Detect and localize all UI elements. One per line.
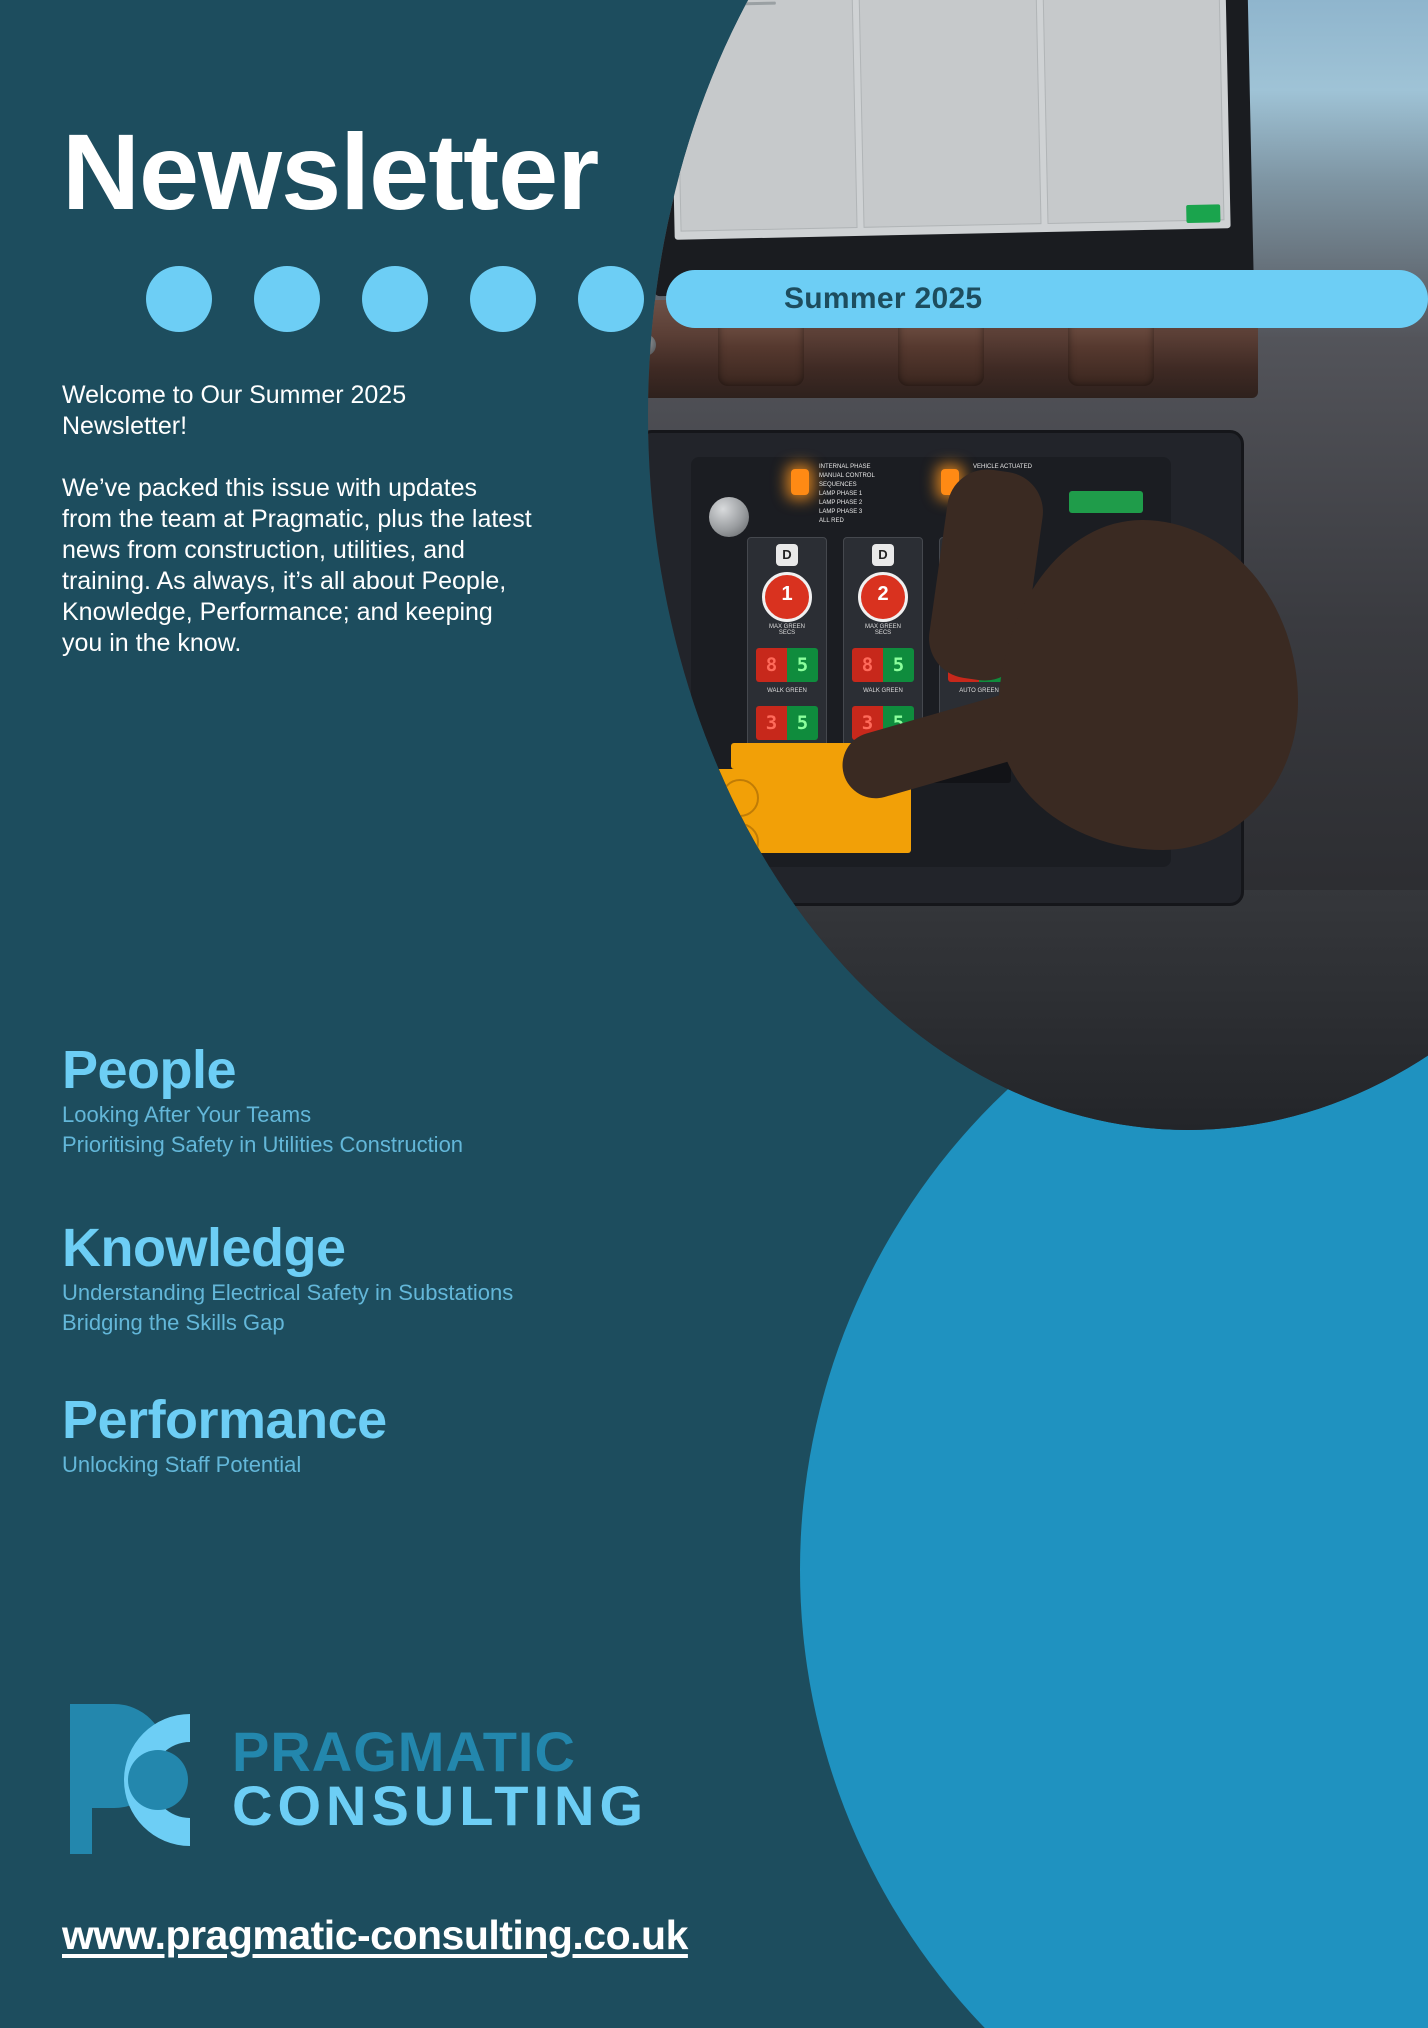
- decorative-dot: [146, 266, 212, 332]
- photo-scene: INTERNAL PHASEMANUAL CONTROL SEQUENCESLA…: [648, 0, 1428, 1130]
- section-item: Prioritising Safety in Utilities Constru…: [62, 1130, 463, 1160]
- newsletter-cover-page: INTERNAL PHASEMANUAL CONTROL SEQUENCESLA…: [0, 0, 1428, 2028]
- section-heading-performance: Performance: [62, 1390, 387, 1450]
- issue-label: Summer 2025: [784, 282, 982, 316]
- issue-banner: Summer 2025: [666, 270, 1428, 328]
- section-knowledge: Knowledge Understanding Electrical Safet…: [62, 1218, 513, 1338]
- photo-instruction-signboard: [648, 0, 1254, 296]
- intro-paragraph-2: We’ve packed this issue with updates fro…: [62, 473, 532, 659]
- pc-monogram-icon: [62, 1700, 210, 1858]
- logo-line-1: PRAGMATIC: [232, 1725, 648, 1779]
- decorative-dot: [578, 266, 644, 332]
- section-item: Looking After Your Teams: [62, 1100, 463, 1130]
- company-logo: PRAGMATIC CONSULTING: [62, 1700, 648, 1858]
- section-performance: Performance Unlocking Staff Potential: [62, 1390, 387, 1480]
- page-title: Newsletter: [62, 118, 598, 226]
- section-item: Unlocking Staff Potential: [62, 1450, 387, 1480]
- logo-line-2: CONSULTING: [232, 1779, 648, 1833]
- decorative-dot: [362, 266, 428, 332]
- intro-paragraph-1: Welcome to Our Summer 2025 Newsletter!: [62, 380, 532, 442]
- section-heading-knowledge: Knowledge: [62, 1218, 513, 1278]
- section-heading-people: People: [62, 1040, 463, 1100]
- cover-photo: INTERNAL PHASEMANUAL CONTROL SEQUENCESLA…: [648, 0, 1428, 1130]
- section-people: People Looking After Your Teams Prioriti…: [62, 1040, 463, 1160]
- intro-text: Welcome to Our Summer 2025 Newsletter! W…: [62, 380, 532, 659]
- decorative-dot: [254, 266, 320, 332]
- pc-monogram-svg: [62, 1700, 210, 1858]
- logo-wordmark: PRAGMATIC CONSULTING: [232, 1725, 648, 1833]
- photo-road: [648, 890, 1428, 1130]
- section-item: Understanding Electrical Safety in Subst…: [62, 1278, 513, 1308]
- website-link[interactable]: www.pragmatic-consulting.co.uk: [62, 1912, 688, 1959]
- decorative-dot: [470, 266, 536, 332]
- section-item: Bridging the Skills Gap: [62, 1308, 513, 1338]
- decorative-dots-row: [146, 266, 644, 332]
